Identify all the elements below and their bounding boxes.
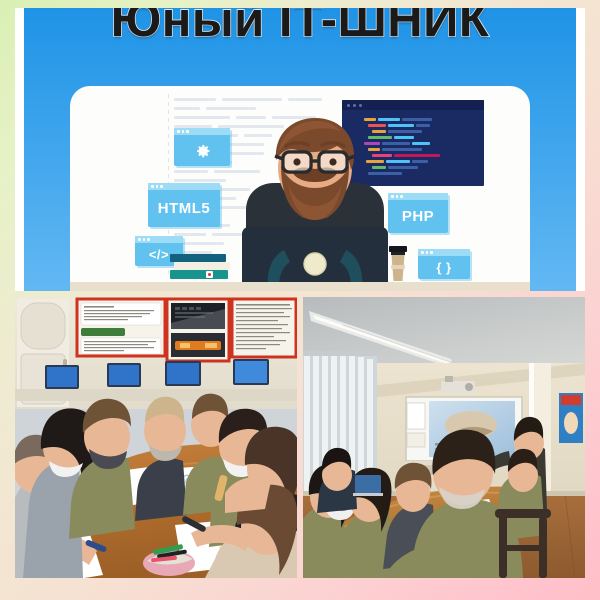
window-dot-icon [156, 185, 159, 188]
window-dot-icon [147, 238, 150, 241]
window-dot-icon [347, 104, 350, 107]
desk-surface [70, 282, 530, 291]
window-dot-icon [177, 130, 180, 133]
window-titlebar [148, 183, 220, 190]
badge-label: { } [418, 256, 470, 279]
window-dot-icon [186, 130, 189, 133]
window-dot-icon [151, 185, 154, 188]
window-dot-icon [359, 104, 362, 107]
window-titlebar [418, 249, 470, 256]
window-dot-icon [430, 251, 433, 254]
window-dot-icon [426, 251, 429, 254]
window-dot-icon [353, 104, 356, 107]
stacked-books [170, 254, 232, 280]
window-dot-icon [138, 238, 141, 241]
badge-label: HTML5 [148, 190, 220, 227]
badge-html5: HTML5 [148, 183, 220, 227]
page-title: Юный IT-ШНИК [24, 8, 576, 45]
it-developer-illustration: Юный IT-ШНИК [24, 8, 576, 291]
window-titlebar [135, 236, 183, 243]
window-dot-icon [160, 185, 163, 188]
coffee-cup [388, 246, 408, 281]
window-dot-icon [421, 251, 424, 254]
badge-curly-braces: { } [418, 249, 470, 279]
banner-frame: Юный IT-ШНИК [15, 8, 585, 291]
window-dot-icon [143, 238, 146, 241]
photo-classroom-presentation [303, 297, 585, 578]
illustration-card: HTML5 </> PHP [70, 86, 530, 291]
photo-collage: Юный IT-ШНИК [0, 0, 600, 600]
bearded-developer-with-laptop [220, 114, 410, 291]
window-dot-icon [182, 130, 185, 133]
editor-titlebar [342, 100, 484, 110]
photo-students-roundtable [15, 297, 297, 578]
